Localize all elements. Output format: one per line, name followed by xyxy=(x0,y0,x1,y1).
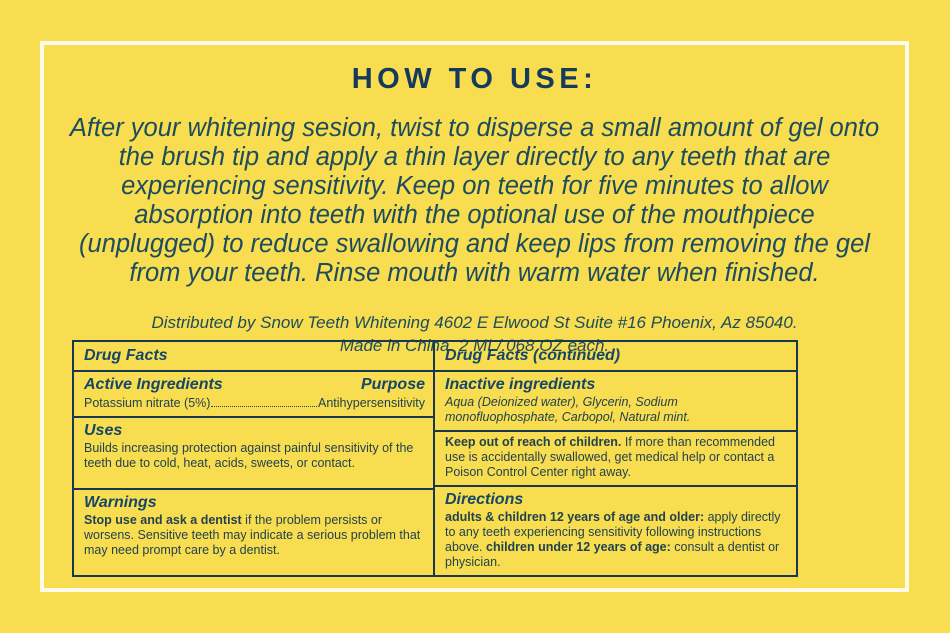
uses-heading: Uses xyxy=(84,421,425,441)
active-ingredient-purpose: Antihypersensitivity xyxy=(318,395,425,411)
drug-facts-banner-right-label: Drug Facts (continued) xyxy=(445,346,788,366)
directions-heading: Directions xyxy=(445,490,788,510)
keep-out-body: Keep out of reach of children. If more t… xyxy=(445,435,788,480)
keep-out-of-reach-cell: Keep out of reach of children. If more t… xyxy=(435,432,796,487)
inactive-ingredients-heading: Inactive ingredients xyxy=(445,375,788,395)
directions-adults-bold: adults & children 12 years of age and ol… xyxy=(445,510,704,524)
inactive-ingredients-cell: Inactive ingredients Aqua (Deionized wat… xyxy=(435,372,796,432)
active-ingredient-row: Potassium nitrate (5%) Antihypersensitiv… xyxy=(84,395,425,411)
drug-facts-banner-right: Drug Facts (continued) xyxy=(435,342,796,372)
uses-cell: Uses Builds increasing protection agains… xyxy=(74,418,433,490)
uses-body: Builds increasing protection against pai… xyxy=(84,441,425,471)
distributor-address-line: Distributed by Snow Teeth Whitening 4602… xyxy=(70,311,879,334)
active-ingredients-heading: Active Ingredients xyxy=(84,375,223,395)
warnings-bold-lead: Stop use and ask a dentist xyxy=(84,513,242,527)
warnings-cell: Warnings Stop use and ask a dentist if t… xyxy=(74,490,433,575)
keep-out-bold-lead: Keep out of reach of children. xyxy=(445,435,621,449)
drug-facts-table: Drug Facts Active Ingredients Purpose Po… xyxy=(72,340,798,577)
leader-dots xyxy=(211,405,317,407)
drug-facts-left-column: Drug Facts Active Ingredients Purpose Po… xyxy=(74,342,435,575)
purpose-heading: Purpose xyxy=(361,375,425,395)
active-ingredients-cell: Active Ingredients Purpose Potassium nit… xyxy=(74,372,433,418)
page-title: HOW TO USE: xyxy=(40,63,909,96)
active-ingredients-heading-row: Active Ingredients Purpose xyxy=(84,375,425,395)
drug-facts-banner-left: Drug Facts xyxy=(74,342,433,372)
warnings-body: Stop use and ask a dentist if the proble… xyxy=(84,513,425,558)
usage-instructions-text: After your whitening sesion, twist to di… xyxy=(66,114,883,288)
directions-children-bold: children under 12 years of age: xyxy=(486,540,671,554)
product-label-root: HOW TO USE: After your whitening sesion,… xyxy=(0,0,950,633)
inactive-ingredients-body: Aqua (Deionized water), Glycerin, Sodium… xyxy=(445,395,788,425)
warnings-heading: Warnings xyxy=(84,493,425,513)
drug-facts-right-column: Drug Facts (continued) Inactive ingredie… xyxy=(435,342,796,575)
directions-body: adults & children 12 years of age and ol… xyxy=(445,510,788,570)
active-ingredient-name: Potassium nitrate (5%) xyxy=(84,395,210,411)
directions-cell: Directions adults & children 12 years of… xyxy=(435,487,796,575)
drug-facts-banner-left-label: Drug Facts xyxy=(84,346,425,366)
